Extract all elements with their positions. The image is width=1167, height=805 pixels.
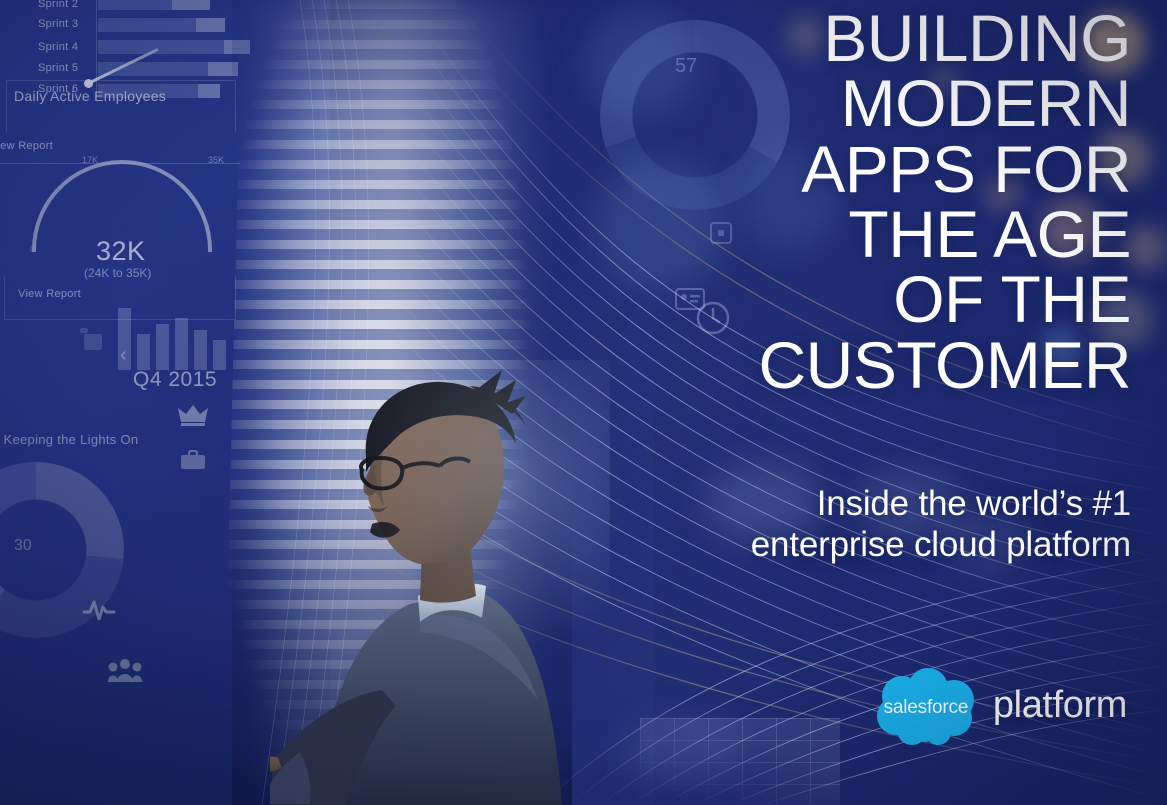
salesforce-wordmark-text: salesforce xyxy=(884,697,969,719)
salesforce-platform-logo[interactable]: salesforce platform xyxy=(872,668,1127,746)
platform-wordmark: platform xyxy=(993,684,1127,731)
ebook-cover: Sprint 2 Sprint 3 Sprint 4 Sprint 5 Spri… xyxy=(0,0,1167,805)
subheadline-block: Inside the world’s #1 enterprise cloud p… xyxy=(711,483,1131,566)
headline-block: BUILDING MODERN APPS FOR THE AGE OF THE … xyxy=(711,6,1131,398)
headline-line-2: APPS FOR xyxy=(711,137,1131,202)
person-with-tablet-photo xyxy=(270,360,600,805)
salesforce-wordmark: salesforce xyxy=(872,668,980,746)
headline-line-1: MODERN xyxy=(711,71,1131,136)
salesforce-cloud-icon: salesforce xyxy=(872,668,980,746)
headline-line-4: OF THE xyxy=(711,267,1131,332)
headline-line-5: CUSTOMER xyxy=(711,333,1131,398)
subheadline-line-0: Inside the world’s #1 xyxy=(711,483,1131,524)
id-card-icon xyxy=(675,288,705,315)
headline-line-3: THE AGE xyxy=(711,202,1131,267)
headline-line-0: BUILDING xyxy=(711,6,1131,71)
subheadline-line-1: enterprise cloud platform xyxy=(711,524,1131,565)
